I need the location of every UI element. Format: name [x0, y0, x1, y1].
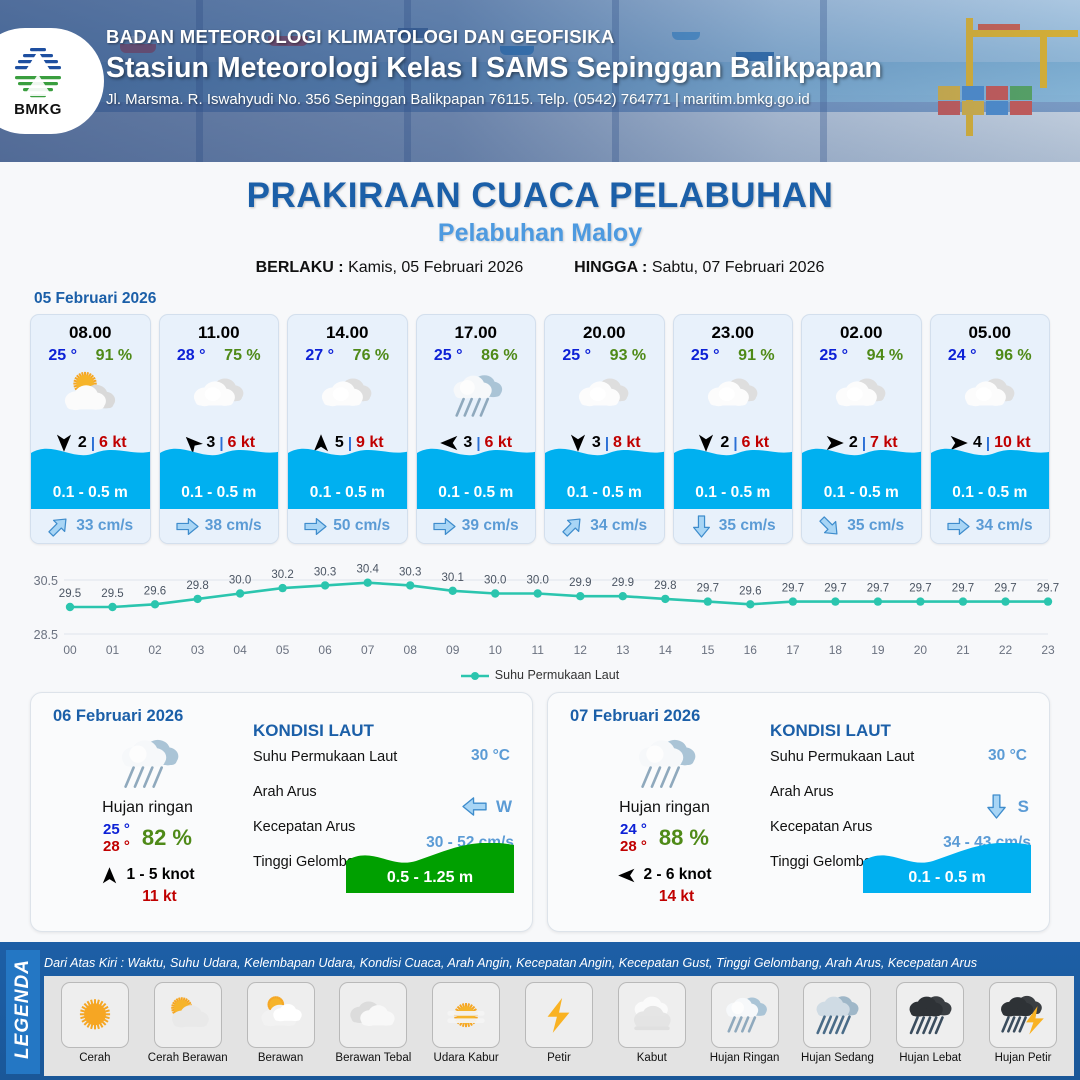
cloudy-icon	[545, 365, 664, 427]
card-wave-height: 0.1 - 0.5 m	[288, 484, 407, 502]
daily-condition: Hujan ringan	[45, 799, 250, 817]
valid-from-value: Kamis, 05 Februari 2026	[348, 259, 523, 276]
header-text-block: BADAN METEOROLOGI KLIMATOLOGI DAN GEOFIS…	[106, 26, 882, 108]
legend-item-label: Hujan Petir	[995, 1052, 1052, 1064]
haze-icon	[432, 982, 500, 1048]
hourly-card: 05.00 24 ° 96 % 4 | 10 kt 0.1 - 0.5 m 34…	[930, 314, 1051, 544]
card-wave-height: 0.1 - 0.5 m	[545, 484, 664, 502]
card-time: 11.00	[160, 315, 279, 343]
hourly-card: 20.00 25 ° 93 % 3 | 8 kt 0.1 - 0.5 m 34 …	[544, 314, 665, 544]
chart-legend-label: Suhu Permukaan Laut	[495, 668, 619, 682]
card-wave-band: 0.1 - 0.5 m	[288, 457, 407, 509]
svg-text:29.7: 29.7	[867, 583, 889, 595]
card-temperature: 24 °	[948, 347, 977, 365]
legend-item-label: Kabut	[637, 1052, 667, 1064]
svg-text:29.8: 29.8	[654, 580, 676, 592]
heavy-rain-icon	[896, 982, 964, 1048]
card-current-row: 34 cm/s	[545, 509, 664, 543]
daily-temp-hum: 25 ° 28 ° 82 %	[45, 821, 250, 856]
svg-text:18: 18	[829, 643, 843, 657]
card-wave-band: 0.1 - 0.5 m	[160, 457, 279, 509]
card-time: 14.00	[288, 315, 407, 343]
card-current-speed: 33 cm/s	[76, 517, 133, 535]
legend-item: Hujan Sedang	[795, 982, 881, 1070]
card-temperature: 25 °	[819, 347, 848, 365]
sst-row: Suhu Permukaan Laut 30 °C	[770, 748, 1035, 783]
current-direction-arrow-icon	[462, 795, 487, 818]
daily-left-block: Hujan ringan 25 ° 28 ° 82 % 1 - 5 knot 1…	[45, 731, 250, 906]
svg-text:17: 17	[786, 643, 800, 657]
current-direction-arrow-icon	[984, 795, 1009, 818]
svg-text:22: 22	[999, 643, 1013, 657]
light-rain-icon	[562, 731, 767, 797]
card-wave-band: 0.1 - 0.5 m	[802, 457, 921, 509]
daily-wind-row: 2 - 6 knot	[562, 866, 767, 885]
card-wave-height: 0.1 - 0.5 m	[160, 484, 279, 502]
card-wave-band: 0.1 - 0.5 m	[545, 457, 664, 509]
light-rain-icon	[711, 982, 779, 1048]
legend-items: Cerah Cerah Berawan Berawan Berawan Teba…	[44, 976, 1074, 1076]
card-humidity: 75 %	[224, 347, 260, 365]
svg-text:19: 19	[871, 643, 885, 657]
sst-label: Suhu Permukaan Laut	[253, 749, 397, 765]
wave-height-badge: 0.1 - 0.5 m	[863, 843, 1031, 893]
chart-legend-marker	[461, 670, 489, 680]
card-wave-band: 0.1 - 0.5 m	[417, 457, 536, 509]
port-name: Pelabuhan Maloy	[0, 219, 1080, 248]
daily-left-block: Hujan ringan 24 ° 28 ° 88 % 2 - 6 knot 1…	[562, 731, 767, 906]
card-humidity: 91 %	[96, 347, 132, 365]
card-temperature: 25 °	[434, 347, 463, 365]
daily-panel: 06 Februari 2026 Hujan ringan 25 ° 28 ° …	[30, 692, 533, 932]
current-direction-value-group: W	[462, 795, 512, 818]
daily-panel: 07 Februari 2026 Hujan ringan 24 ° 28 ° …	[547, 692, 1050, 932]
svg-text:30.0: 30.0	[527, 575, 549, 587]
station-address: Jl. Marsma. R. Iswahyudi No. 356 Sepingg…	[106, 91, 882, 108]
current-speed-label: Kecepatan Arus	[770, 819, 872, 835]
sst-value: 30 °C	[988, 747, 1027, 765]
svg-text:29.6: 29.6	[144, 585, 166, 597]
svg-text:30.0: 30.0	[229, 575, 251, 587]
daily-temp-max: 28 °	[620, 838, 647, 855]
sea-condition-block: KONDISI LAUT Suhu Permukaan Laut 30 °C A…	[253, 721, 518, 888]
svg-text:30.2: 30.2	[271, 569, 293, 581]
daily-gust: 11 kt	[69, 888, 250, 906]
card-time: 23.00	[674, 315, 793, 343]
svg-text:00: 00	[63, 643, 77, 657]
wave-height-value: 0.5 - 1.25 m	[346, 869, 514, 887]
card-current-row: 50 cm/s	[288, 509, 407, 543]
current-direction-value: W	[496, 797, 512, 817]
sea-condition-title: KONDISI LAUT	[770, 721, 1035, 741]
legend-item: Berawan	[238, 982, 324, 1070]
cloudy-icon	[160, 365, 279, 427]
svg-text:20: 20	[914, 643, 928, 657]
current-direction-value: S	[1018, 797, 1029, 817]
daily-humidity: 88 %	[659, 825, 709, 851]
daily-humidity: 82 %	[142, 825, 192, 851]
daily-temp-min: 24 °	[620, 821, 647, 838]
legend-item: Kabut	[609, 982, 695, 1070]
bmkg-logo: BMKG	[0, 28, 104, 134]
legend-item: Udara Kabur	[423, 982, 509, 1070]
card-temp-hum: 25 ° 94 %	[802, 343, 921, 365]
valid-from-label: BERLAKU :	[256, 259, 344, 276]
cloudy-icon	[802, 365, 921, 427]
page-header: BMKG BADAN METEOROLOGI KLIMATOLOGI DAN G…	[0, 0, 1080, 162]
svg-text:10: 10	[489, 643, 503, 657]
partly-cloudy-icon	[31, 365, 150, 427]
hourly-card: 14.00 27 ° 76 % 5 | 9 kt 0.1 - 0.5 m 50 …	[287, 314, 408, 544]
legend-item-label: Petir	[547, 1052, 571, 1064]
svg-text:29.5: 29.5	[101, 588, 123, 600]
card-current-row: 35 cm/s	[802, 509, 921, 543]
legend-item-label: Cerah Berawan	[148, 1052, 228, 1064]
card-current-speed: 50 cm/s	[333, 517, 390, 535]
light-rain-icon	[45, 731, 250, 797]
card-wave-height: 0.1 - 0.5 m	[802, 484, 921, 502]
current-direction-value-group: S	[984, 795, 1029, 818]
card-temp-hum: 25 ° 91 %	[31, 343, 150, 365]
card-humidity: 86 %	[481, 347, 517, 365]
current-direction-label: Arah Arus	[253, 784, 317, 800]
daily-date: 06 Februari 2026	[53, 707, 183, 726]
legend-side-label: LEGENDA	[12, 947, 34, 1071]
card-temp-hum: 25 ° 93 %	[545, 343, 664, 365]
legend-item-label: Cerah	[79, 1052, 110, 1064]
svg-text:23: 23	[1041, 643, 1055, 657]
legend-side-band: LEGENDA	[6, 950, 40, 1074]
svg-text:14: 14	[659, 643, 673, 657]
valid-until-value: Sabtu, 07 Februari 2026	[652, 259, 825, 276]
svg-text:29.7: 29.7	[824, 583, 846, 595]
hourly-card: 08.00 25 ° 91 % 2 | 6 kt 0.1 - 0.5 m 33 …	[30, 314, 151, 544]
daily-wind-range: 2 - 6 knot	[643, 866, 711, 884]
card-temperature: 25 °	[691, 347, 720, 365]
hourly-card: 17.00 25 ° 86 % 3 | 6 kt 0.1 - 0.5 m 39	[416, 314, 537, 544]
legend-note: Dari Atas Kiri : Waktu, Suhu Udara, Kele…	[44, 950, 1074, 976]
card-current-speed: 34 cm/s	[590, 517, 647, 535]
legend-item: Hujan Ringan	[702, 982, 788, 1070]
hourly-date-label: 05 Februari 2026	[34, 290, 1080, 308]
card-temp-hum: 25 ° 86 %	[417, 343, 536, 365]
current-direction-row: Arah Arus W	[253, 783, 518, 818]
svg-text:21: 21	[956, 643, 970, 657]
card-current-speed: 35 cm/s	[719, 517, 776, 535]
svg-text:29.7: 29.7	[697, 583, 719, 595]
wind-direction-arrow-icon	[100, 866, 119, 885]
fog-icon	[618, 982, 686, 1048]
station-name: Stasiun Meteorologi Kelas I SAMS Sepingg…	[106, 52, 882, 85]
svg-text:05: 05	[276, 643, 290, 657]
current-direction-arrow-icon	[176, 516, 199, 537]
svg-text:16: 16	[744, 643, 758, 657]
svg-text:30.3: 30.3	[314, 566, 336, 578]
page-title: PRAKIRAAN CUACA PELABUHAN	[0, 176, 1080, 216]
card-temperature: 25 °	[562, 347, 591, 365]
current-direction-arrow-icon	[433, 516, 456, 537]
hourly-card: 23.00 25 ° 91 % 2 | 6 kt 0.1 - 0.5 m 35 …	[673, 314, 794, 544]
valid-until-label: HINGGA :	[574, 259, 647, 276]
svg-text:03: 03	[191, 643, 205, 657]
current-direction-arrow-icon	[304, 516, 327, 537]
svg-text:29.5: 29.5	[59, 588, 81, 600]
daily-gust: 14 kt	[586, 888, 767, 906]
wave-height-value: 0.1 - 0.5 m	[863, 869, 1031, 887]
legend-item-label: Udara Kabur	[434, 1052, 499, 1064]
daily-date: 07 Februari 2026	[570, 707, 700, 726]
svg-text:29.7: 29.7	[994, 583, 1016, 595]
validity-row: BERLAKU : Kamis, 05 Februari 2026 HINGGA…	[0, 259, 1080, 277]
light-rain-icon	[417, 365, 536, 427]
svg-text:06: 06	[318, 643, 332, 657]
card-humidity: 93 %	[610, 347, 646, 365]
svg-text:30.1: 30.1	[442, 572, 464, 584]
card-current-speed: 38 cm/s	[205, 517, 262, 535]
svg-text:29.6: 29.6	[739, 585, 761, 597]
daily-forecast-panels: 06 Februari 2026 Hujan ringan 25 ° 28 ° …	[0, 682, 1080, 932]
daily-wind-range: 1 - 5 knot	[126, 866, 194, 884]
card-time: 02.00	[802, 315, 921, 343]
svg-text:12: 12	[574, 643, 588, 657]
legend-item: Hujan Petir	[980, 982, 1066, 1070]
card-temperature: 28 °	[177, 347, 206, 365]
svg-text:11: 11	[531, 643, 544, 657]
svg-text:13: 13	[616, 643, 630, 657]
card-current-speed: 39 cm/s	[462, 517, 519, 535]
card-temp-hum: 24 ° 96 %	[931, 343, 1050, 365]
card-time: 17.00	[417, 315, 536, 343]
sst-row: Suhu Permukaan Laut 30 °C	[253, 748, 518, 783]
daily-wind-row: 1 - 5 knot	[45, 866, 250, 885]
card-wave-height: 0.1 - 0.5 m	[674, 484, 793, 502]
current-speed-label: Kecepatan Arus	[253, 819, 355, 835]
svg-text:08: 08	[404, 643, 418, 657]
sun-cloud-icon	[154, 982, 222, 1048]
legend-item: Cerah	[52, 982, 138, 1070]
card-wave-band: 0.1 - 0.5 m	[931, 457, 1050, 509]
legend-item: Hujan Lebat	[887, 982, 973, 1070]
legend-item: Petir	[516, 982, 602, 1070]
card-current-row: 34 cm/s	[931, 509, 1050, 543]
current-direction-arrow-icon	[818, 516, 841, 537]
bmkg-logo-mark	[8, 44, 68, 100]
moderate-rain-icon	[803, 982, 871, 1048]
current-direction-arrow-icon	[690, 516, 713, 537]
svg-text:30.3: 30.3	[399, 566, 421, 578]
card-current-speed: 34 cm/s	[976, 517, 1033, 535]
title-block: PRAKIRAAN CUACA PELABUHAN Pelabuhan Malo…	[0, 176, 1080, 277]
svg-text:29.9: 29.9	[612, 577, 634, 589]
card-wave-band: 0.1 - 0.5 m	[31, 457, 150, 509]
card-time: 08.00	[31, 315, 150, 343]
legend-section: LEGENDA Dari Atas Kiri : Waktu, Suhu Uda…	[0, 942, 1080, 1080]
card-temperature: 25 °	[48, 347, 77, 365]
sea-condition-block: KONDISI LAUT Suhu Permukaan Laut 30 °C A…	[770, 721, 1035, 888]
current-direction-arrow-icon	[47, 516, 70, 537]
cloudy-icon	[288, 365, 407, 427]
card-temp-hum: 28 ° 75 %	[160, 343, 279, 365]
sst-chart: 30.528.529.50029.50129.60229.80330.00430…	[18, 554, 1062, 666]
hourly-forecast-cards: 08.00 25 ° 91 % 2 | 6 kt 0.1 - 0.5 m 33 …	[0, 314, 1080, 544]
card-temp-hum: 25 ° 91 %	[674, 343, 793, 365]
card-humidity: 94 %	[867, 347, 903, 365]
sunny-icon	[61, 982, 129, 1048]
current-direction-label: Arah Arus	[770, 784, 834, 800]
sst-label: Suhu Permukaan Laut	[770, 749, 914, 765]
legend-item: Berawan Tebal	[330, 982, 416, 1070]
card-temp-hum: 27 ° 76 %	[288, 343, 407, 365]
svg-text:15: 15	[701, 643, 715, 657]
card-current-row: 39 cm/s	[417, 509, 536, 543]
legend-item: Cerah Berawan	[145, 982, 231, 1070]
daily-temp-min: 25 °	[103, 821, 130, 838]
current-direction-arrow-icon	[561, 516, 584, 537]
legend-item-label: Hujan Lebat	[899, 1052, 961, 1064]
legend-item-label: Berawan	[258, 1052, 303, 1064]
hourly-card: 02.00 25 ° 94 % 2 | 7 kt 0.1 - 0.5 m 35 …	[801, 314, 922, 544]
card-time: 20.00	[545, 315, 664, 343]
svg-text:07: 07	[361, 643, 375, 657]
cloud-sun-small-icon	[247, 982, 315, 1048]
svg-text:29.7: 29.7	[952, 583, 974, 595]
hourly-card: 11.00 28 ° 75 % 3 | 6 kt 0.1 - 0.5 m 38 …	[159, 314, 280, 544]
svg-text:02: 02	[148, 643, 162, 657]
thick-cloud-icon	[339, 982, 407, 1048]
daily-temp-max: 28 °	[103, 838, 130, 855]
svg-text:01: 01	[106, 643, 120, 657]
svg-text:04: 04	[233, 643, 247, 657]
legend-item-label: Hujan Sedang	[801, 1052, 874, 1064]
svg-text:30.0: 30.0	[484, 575, 506, 587]
card-current-row: 35 cm/s	[674, 509, 793, 543]
card-wave-height: 0.1 - 0.5 m	[31, 484, 150, 502]
card-current-row: 38 cm/s	[160, 509, 279, 543]
card-temperature: 27 °	[305, 347, 334, 365]
card-humidity: 76 %	[353, 347, 389, 365]
daily-condition: Hujan ringan	[562, 799, 767, 817]
cloudy-icon	[931, 365, 1050, 427]
legend-item-label: Hujan Ringan	[710, 1052, 780, 1064]
card-humidity: 96 %	[995, 347, 1031, 365]
svg-text:29.8: 29.8	[186, 580, 208, 592]
svg-text:29.7: 29.7	[1037, 583, 1059, 595]
current-direction-arrow-icon	[947, 516, 970, 537]
svg-text:28.5: 28.5	[34, 628, 58, 642]
svg-text:29.9: 29.9	[569, 577, 591, 589]
chart-legend: Suhu Permukaan Laut	[0, 668, 1080, 682]
card-wave-height: 0.1 - 0.5 m	[417, 484, 536, 502]
cloudy-icon	[674, 365, 793, 427]
card-time: 05.00	[931, 315, 1050, 343]
thunderstorm-icon	[989, 982, 1057, 1048]
card-humidity: 91 %	[738, 347, 774, 365]
lightning-icon	[525, 982, 593, 1048]
card-current-row: 33 cm/s	[31, 509, 150, 543]
card-wave-height: 0.1 - 0.5 m	[931, 484, 1050, 502]
current-direction-row: Arah Arus S	[770, 783, 1035, 818]
legend-item-label: Berawan Tebal	[335, 1052, 411, 1064]
card-wave-band: 0.1 - 0.5 m	[674, 457, 793, 509]
sea-condition-title: KONDISI LAUT	[253, 721, 518, 741]
svg-text:29.7: 29.7	[909, 583, 931, 595]
svg-text:30.5: 30.5	[34, 574, 58, 588]
wave-height-badge: 0.5 - 1.25 m	[346, 843, 514, 893]
sst-value: 30 °C	[471, 747, 510, 765]
svg-text:30.4: 30.4	[357, 564, 380, 576]
bmkg-logo-text: BMKG	[14, 101, 62, 118]
daily-temp-hum: 24 ° 28 ° 88 %	[562, 821, 767, 856]
wind-direction-arrow-icon	[617, 866, 636, 885]
svg-text:09: 09	[446, 643, 460, 657]
svg-text:29.7: 29.7	[782, 583, 804, 595]
card-current-speed: 35 cm/s	[847, 517, 904, 535]
agency-name: BADAN METEOROLOGI KLIMATOLOGI DAN GEOFIS…	[106, 26, 882, 48]
